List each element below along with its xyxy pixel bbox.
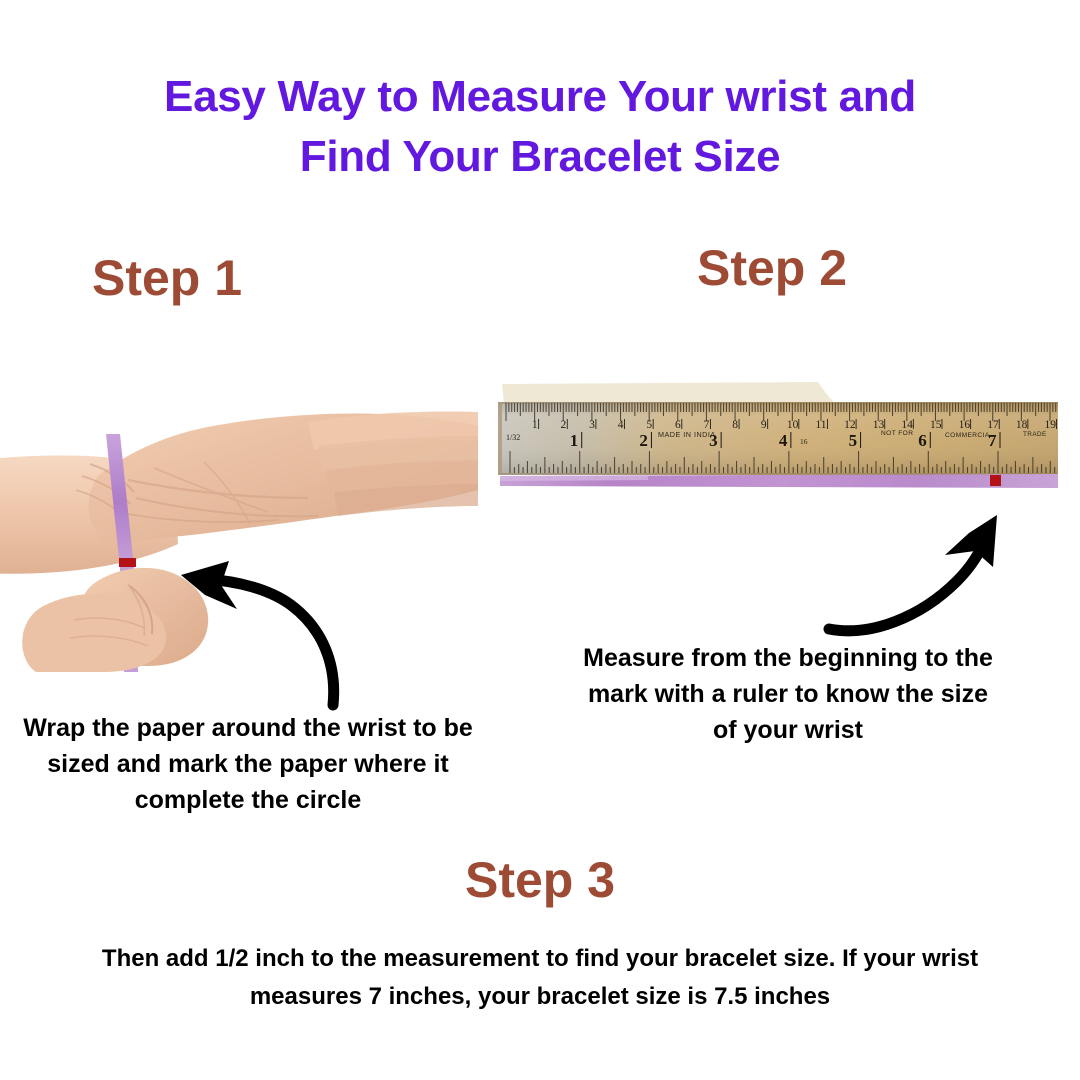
- step-1-caption: Wrap the paper around the wrist to be si…: [8, 710, 488, 818]
- step-1-heading: Step 1: [92, 250, 242, 306]
- ruler-made-in-india: MADE IN INDIA: [658, 430, 716, 439]
- ruler-over-paper-strip-photo: 12345678910111213141516171819 MADE IN IN…: [498, 382, 1058, 497]
- paper-mark-red: [119, 558, 136, 567]
- infographic-canvas: Easy Way to Measure Your wrist and Find …: [0, 0, 1080, 1080]
- ruler-inch-number: 2: [639, 431, 648, 450]
- ruler-cm-number: 11: [815, 419, 826, 431]
- page-title-line-1: Easy Way to Measure Your wrist and: [0, 68, 1080, 126]
- ruler-cm-number: 10: [787, 419, 799, 431]
- ruler-not-for: NOT FOR: [881, 430, 913, 437]
- cream-paper-above: [502, 382, 834, 404]
- step-2-curved-arrow: [815, 505, 1025, 645]
- ruler-subdivision-label: 16: [800, 437, 808, 446]
- ruler-cm-number: 2: [560, 419, 566, 431]
- ruler-cm-number: 12: [844, 419, 856, 431]
- ruler-cm-number: 18: [1016, 419, 1028, 431]
- page-title-line-2: Find Your Bracelet Size: [0, 128, 1080, 186]
- step-1-curved-arrow: [165, 555, 365, 715]
- ruler-inch-number: 4: [779, 431, 788, 450]
- ruler-cm-number: 8: [732, 419, 738, 431]
- ruler-trade: TRADE: [1023, 431, 1047, 438]
- step-2-heading: Step 2: [697, 240, 847, 296]
- ruler-inch-number: 1: [570, 431, 579, 450]
- step-3-heading: Step 3: [0, 852, 1080, 908]
- ruler-cm-number: 4: [618, 419, 624, 431]
- ruler-fraction-label: 1/32: [506, 433, 520, 442]
- ruler-cm-number: 15: [930, 419, 942, 431]
- ruler-inch-number: 6: [918, 431, 927, 450]
- ruler-inch-number: 3: [709, 431, 718, 450]
- ruler-cm-number: 3: [589, 419, 595, 431]
- step-3-caption: Then add 1/2 inch to the measurement to …: [90, 940, 990, 1016]
- ruler-cm-number: 9: [761, 419, 767, 431]
- ruler-inch-number: 5: [849, 431, 858, 450]
- ruler-cm-number: 16: [959, 419, 971, 431]
- ruler-cm-number: 17: [987, 419, 999, 431]
- paper-mark-red-on-ruler: [990, 475, 1001, 486]
- ruler-cm-number: 19: [1045, 419, 1057, 431]
- ruler-cm-number: 5: [646, 419, 652, 431]
- step-2-caption: Measure from the beginning to the mark w…: [578, 640, 998, 748]
- ruler-inch-number: 7: [988, 431, 997, 450]
- ruler-commercia: COMMERCIA: [945, 432, 990, 439]
- ruler-cm-number: 1: [532, 419, 538, 431]
